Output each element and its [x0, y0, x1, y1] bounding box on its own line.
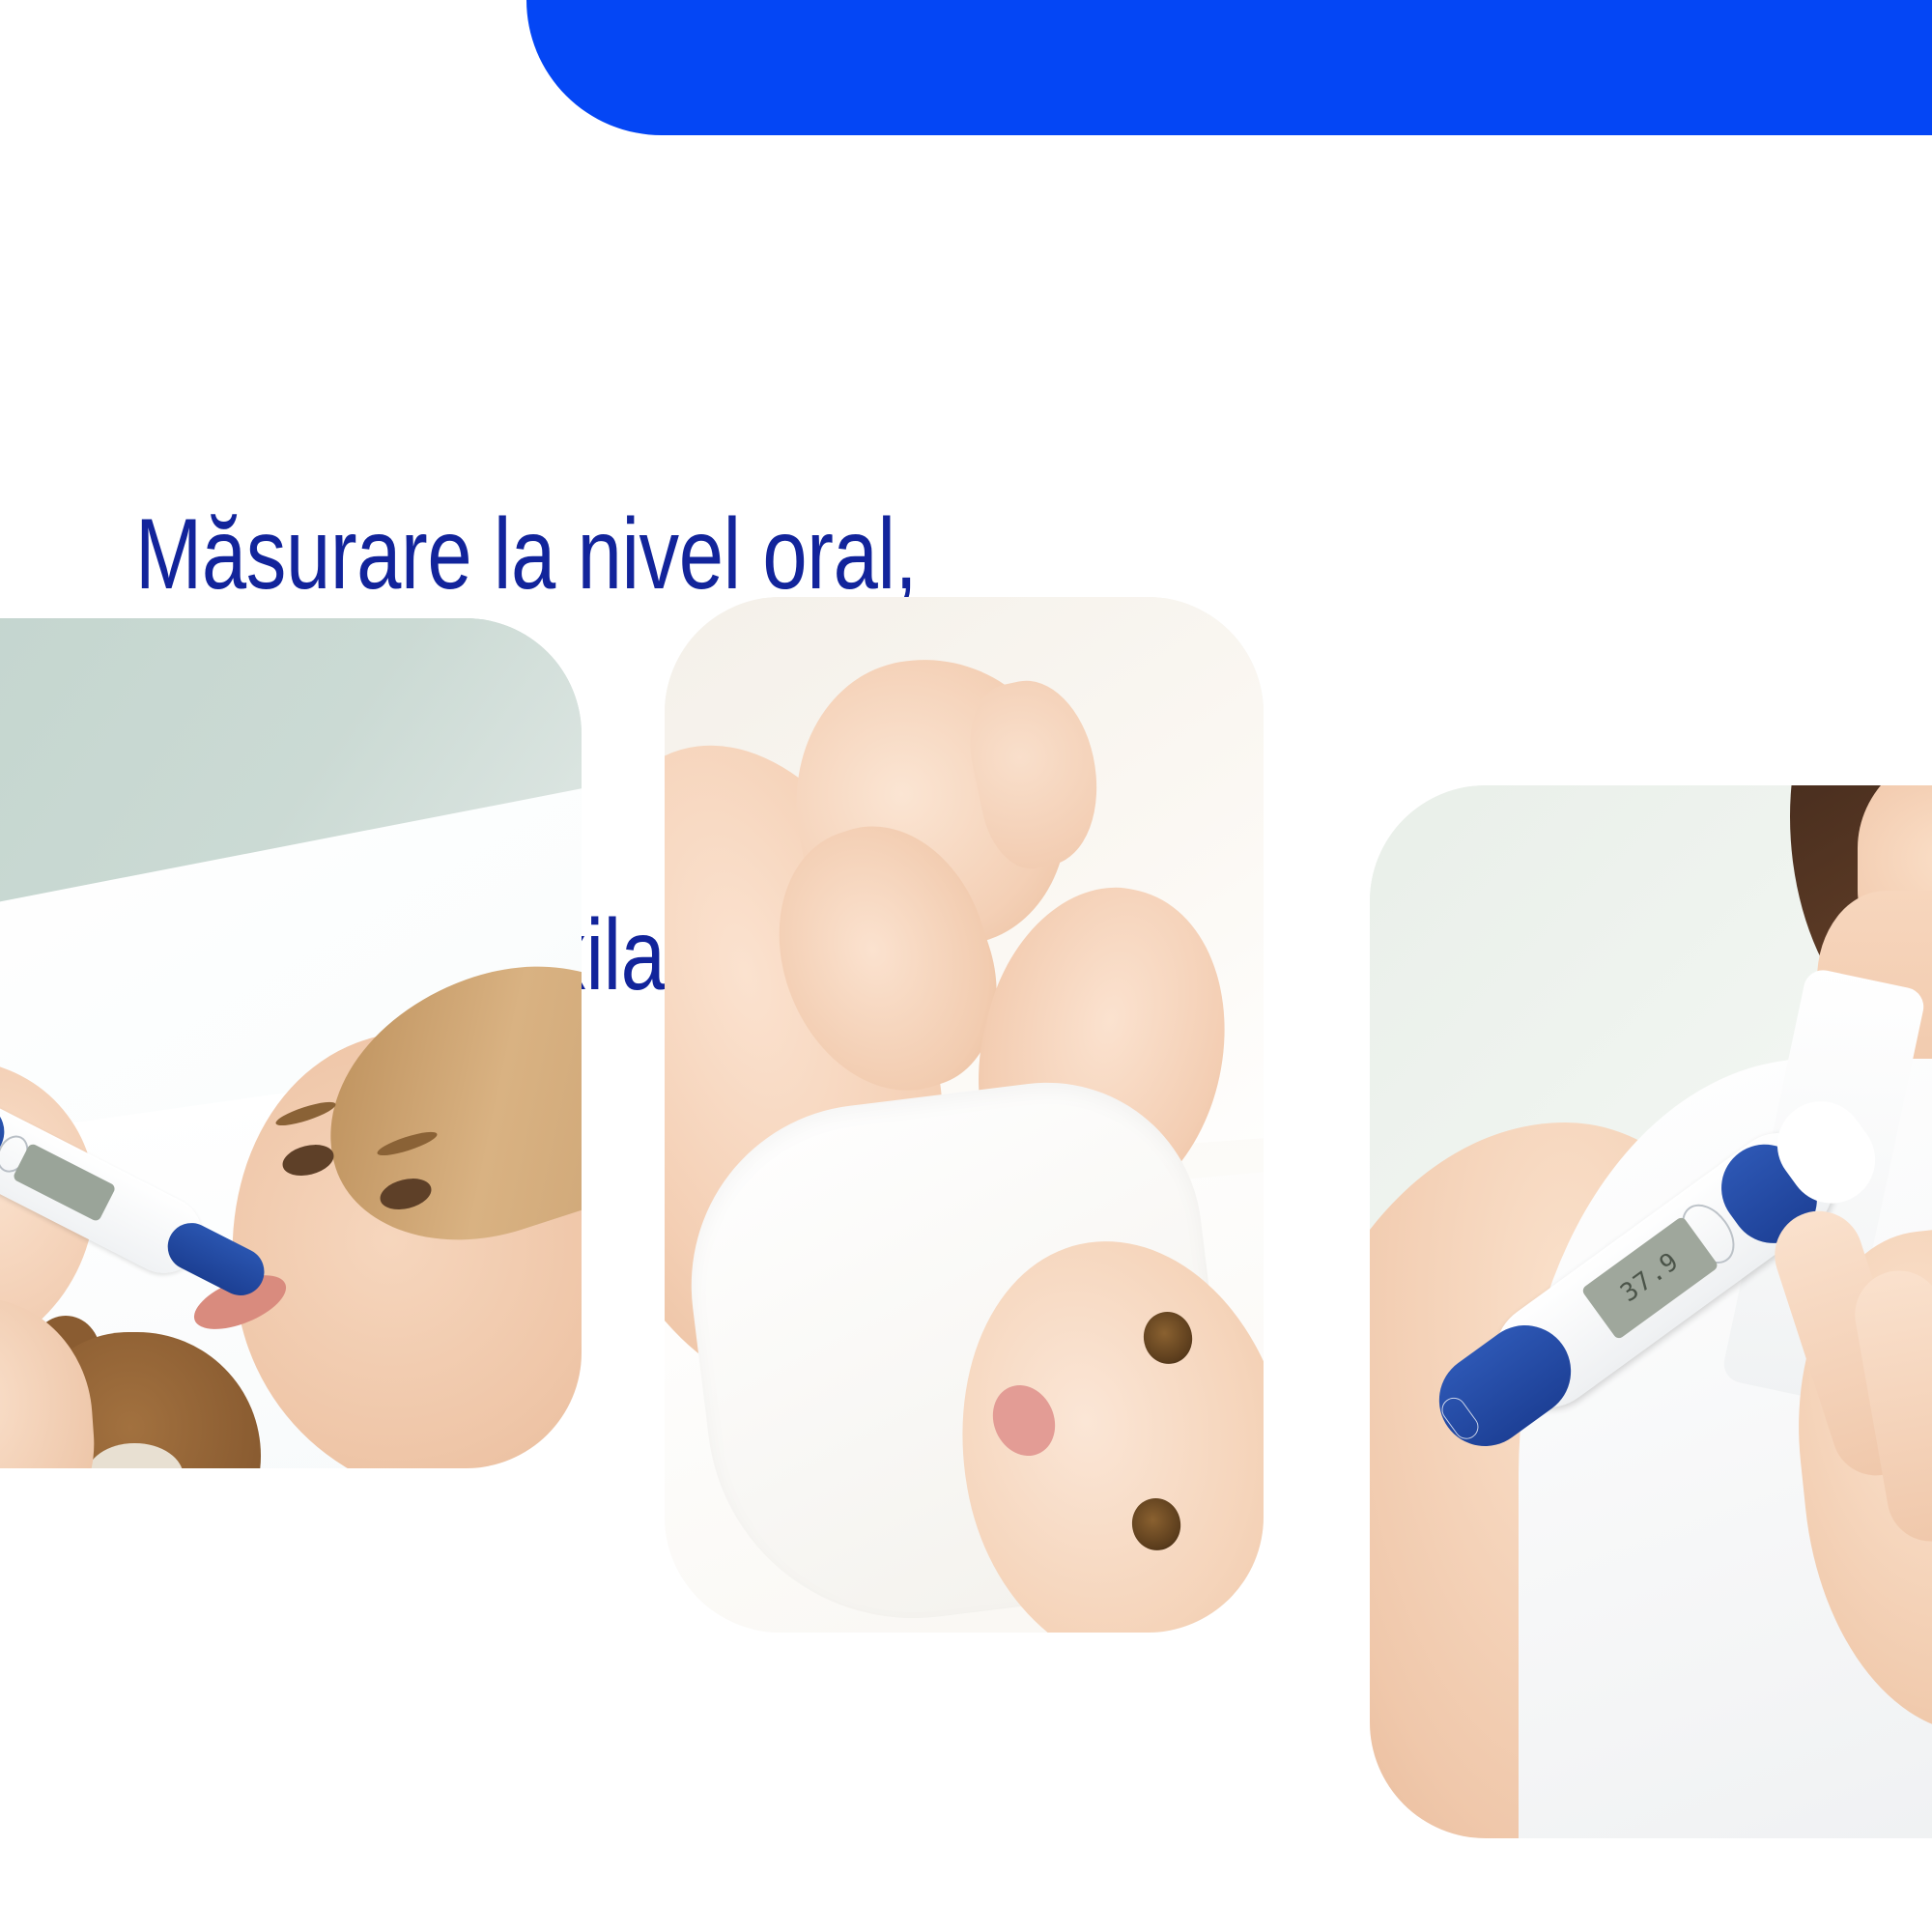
photo-card-rectal	[665, 597, 1264, 1633]
poster-canvas: Măsurare la nivel oral, rectal sau axila…	[0, 0, 1932, 1932]
oral-measurement-photo	[0, 618, 582, 1468]
rectal-measurement-photo	[665, 597, 1264, 1633]
axillary-measurement-photo: 37.9	[1370, 785, 1932, 1838]
top-blue-banner	[526, 0, 1932, 135]
photo-card-oral	[0, 618, 582, 1468]
photo-card-axillary: 37.9	[1370, 785, 1932, 1838]
